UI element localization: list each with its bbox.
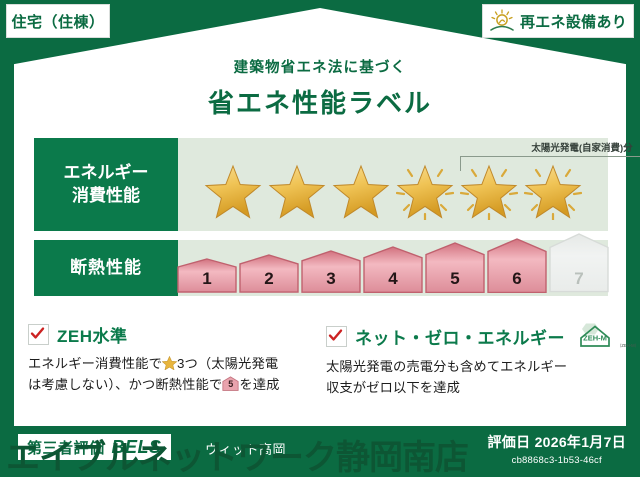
evaluation-info: 評価日 2026年1月7日 cb8868c3-1b53-46cf bbox=[487, 432, 626, 466]
energy-label-line2: 消費性能 bbox=[72, 185, 140, 208]
criterion-zeh-text-d: を達成 bbox=[239, 377, 279, 392]
check-icon bbox=[326, 326, 347, 347]
criterion-net-zero-energy: ネット・ゼロ・エネルギー ZEH-M （ZEH-M） 太陽光発電の売電分も含めて… bbox=[326, 322, 608, 398]
criterion-zeh-title: ZEH水準 bbox=[57, 322, 128, 347]
title-block: 建築物省エネ法に基づく 省エネ性能ラベル bbox=[0, 56, 640, 120]
insulation-performance-body: 1 2 3 4 5 6 bbox=[178, 240, 608, 296]
solar-bracket-caption: 太陽光発電(自家消費)分 bbox=[460, 140, 640, 154]
criterion-nze-header: ネット・ゼロ・エネルギー ZEH-M （ZEH-M） bbox=[326, 322, 608, 350]
energy-performance-row: エネルギー 消費性能 太陽光発電(自家消費)分 bbox=[34, 138, 608, 231]
insulation-house-active: 1 bbox=[177, 258, 237, 293]
criterion-zeh: ZEH水準 エネルギー消費性能で3つ（太陽光発電は考慮しない）、かつ断熱性能で5… bbox=[28, 322, 310, 395]
badge-renewable-equipment: 再エネ設備あり bbox=[482, 4, 634, 38]
svg-text:（ZEH-M）: （ZEH-M） bbox=[617, 343, 639, 348]
insulation-house-level: 5 bbox=[425, 269, 485, 289]
insulation-label-text: 断熱性能 bbox=[70, 257, 142, 280]
insulation-house-active: 2 bbox=[239, 254, 299, 293]
energy-label-line1: エネルギー bbox=[64, 162, 149, 185]
insulation-house-level: 6 bbox=[487, 269, 547, 289]
insulation-house-active: 5 bbox=[425, 242, 485, 293]
building-name: ウィット高岡 bbox=[205, 439, 286, 458]
criterion-zeh-text: エネルギー消費性能で3つ（太陽光発電は考慮しない）、かつ断熱性能で5を達成 bbox=[28, 354, 310, 395]
criterion-zeh-text-a: エネルギー消費性能で bbox=[28, 356, 162, 371]
criterion-zeh-text-c: は考慮しない）、かつ断熱性能で bbox=[28, 377, 222, 392]
insulation-house-level: 1 bbox=[177, 269, 237, 289]
check-icon bbox=[28, 324, 49, 345]
star-icon-solar bbox=[396, 164, 454, 220]
criterion-zeh-header: ZEH水準 bbox=[28, 322, 310, 347]
insulation-house-level: 3 bbox=[301, 269, 361, 289]
insulation-house-active: 6 bbox=[487, 238, 547, 294]
insulation-performance-row: 断熱性能 1 2 3 4 bbox=[34, 240, 608, 296]
page-title: 省エネ性能ラベル bbox=[0, 83, 640, 120]
criterion-zeh-text-b: 3つ（太陽光発電 bbox=[177, 356, 278, 371]
insulation-performance-label: 断熱性能 bbox=[34, 240, 178, 296]
criterion-nze-text-a: 太陽光発電の売電分も含めてエネルギー bbox=[326, 359, 567, 374]
star-icon-filled bbox=[204, 164, 262, 220]
criterion-nze-text: 太陽光発電の売電分も含めてエネルギー収支がゼロ以下を達成 bbox=[326, 357, 608, 398]
criterion-nze-text-b: 収支がゼロ以下を達成 bbox=[326, 380, 460, 395]
energy-star-rating bbox=[178, 157, 608, 227]
badge-building-type: 住宅（住棟） bbox=[6, 4, 110, 38]
badge-renewable-label: 再エネ設備あり bbox=[520, 11, 627, 32]
inline-house-badge: 5 bbox=[222, 376, 239, 391]
evaluation-date-label: 評価日 bbox=[487, 434, 530, 450]
badge-building-type-label: 住宅（住棟） bbox=[11, 11, 104, 32]
label-subtitle: 建築物省エネ法に基づく bbox=[0, 56, 640, 77]
sun-icon bbox=[489, 9, 515, 33]
footer-bar: 第三者評価 BELS ウィット高岡 評価日 2026年1月7日 cb8868c3… bbox=[0, 426, 640, 477]
star-icon-filled bbox=[268, 164, 326, 220]
insulation-house-inactive: 7 bbox=[549, 233, 609, 293]
criterion-nze-title: ネット・ゼロ・エネルギー bbox=[355, 324, 565, 349]
star-icon-filled bbox=[332, 164, 390, 220]
zeh-m-logo: ZEH-M （ZEH-M） bbox=[575, 322, 640, 350]
evaluation-date: 評価日 2026年1月7日 bbox=[487, 432, 626, 452]
insulation-house-active: 3 bbox=[301, 250, 361, 293]
insulation-house-level: 2 bbox=[239, 269, 299, 289]
inline-house-level: 5 bbox=[222, 376, 239, 391]
svg-text:ZEH-M: ZEH-M bbox=[583, 334, 607, 343]
bels-en-label: BELS bbox=[112, 437, 162, 458]
bels-badge: 第三者評価 BELS bbox=[18, 434, 171, 460]
energy-performance-body: 太陽光発電(自家消費)分 bbox=[178, 138, 608, 231]
inline-star-icon bbox=[162, 356, 177, 370]
energy-label-card: 住宅（住棟） 再エネ設備あり 建築物省エネ法に基づく 省エネ性能ラベル bbox=[0, 0, 640, 477]
insulation-house-level: 7 bbox=[549, 269, 609, 289]
evaluation-id: cb8868c3-1b53-46cf bbox=[487, 455, 626, 466]
insulation-house-active: 4 bbox=[363, 246, 423, 293]
star-icon-solar bbox=[524, 164, 582, 220]
star-icon-solar bbox=[460, 164, 518, 220]
evaluation-date-value: 2026年1月7日 bbox=[535, 434, 626, 450]
bels-jp-label: 第三者評価 bbox=[27, 437, 105, 458]
insulation-house-level: 4 bbox=[363, 269, 423, 289]
insulation-level-scale: 1 2 3 4 5 6 bbox=[178, 243, 608, 293]
energy-performance-label: エネルギー 消費性能 bbox=[34, 138, 178, 231]
